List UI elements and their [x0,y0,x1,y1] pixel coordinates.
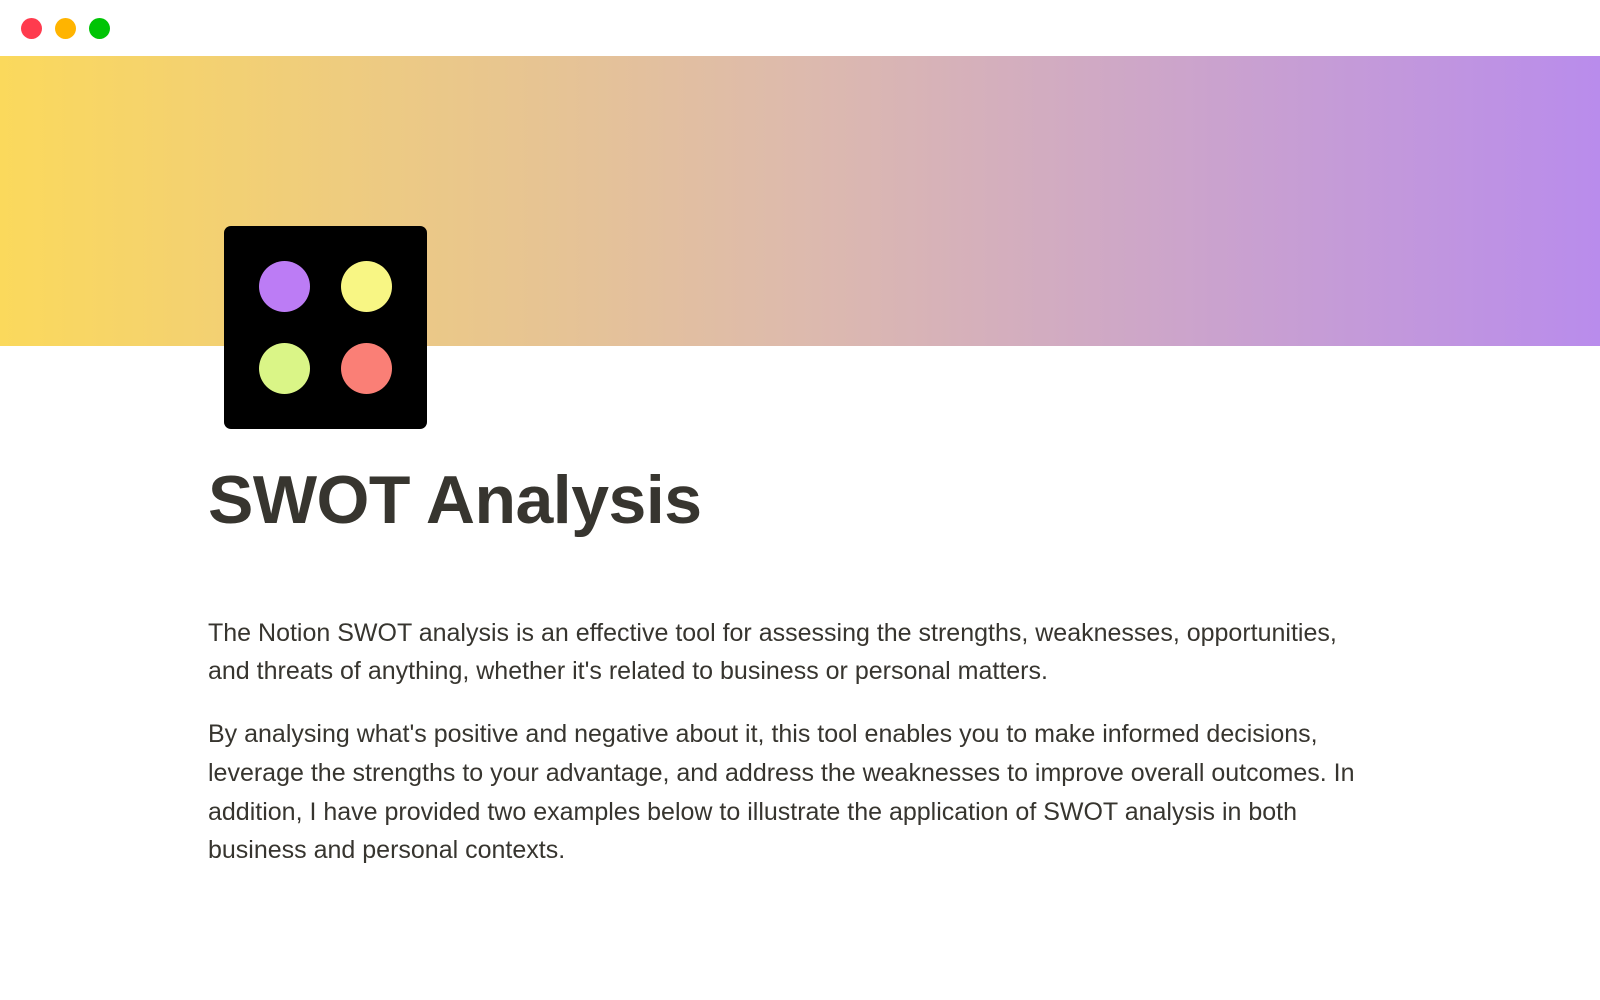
traffic-light-controls [21,18,110,39]
intro-paragraph-2[interactable]: By analysing what's positive and negativ… [208,715,1368,870]
yellow-dot-icon [341,261,392,312]
page-title[interactable]: SWOT Analysis [208,460,1408,542]
intro-paragraph-1[interactable]: The Notion SWOT analysis is an effective… [208,614,1368,692]
salmon-dot-icon [341,343,392,394]
icon-cell-top-right [326,245,409,328]
app-window: SWOT Analysis The Notion SWOT analysis i… [0,0,1600,1000]
icon-cell-top-left [243,245,326,328]
icon-cell-bottom-left [243,328,326,411]
lime-dot-icon [259,343,310,394]
icon-cell-bottom-right [326,328,409,411]
minimize-window-button[interactable] [55,18,76,39]
close-window-button[interactable] [21,18,42,39]
maximize-window-button[interactable] [89,18,110,39]
page-content: SWOT Analysis The Notion SWOT analysis i… [208,460,1408,870]
window-titlebar [0,0,1600,56]
page-icon[interactable] [224,226,427,429]
purple-dot-icon [259,261,310,312]
